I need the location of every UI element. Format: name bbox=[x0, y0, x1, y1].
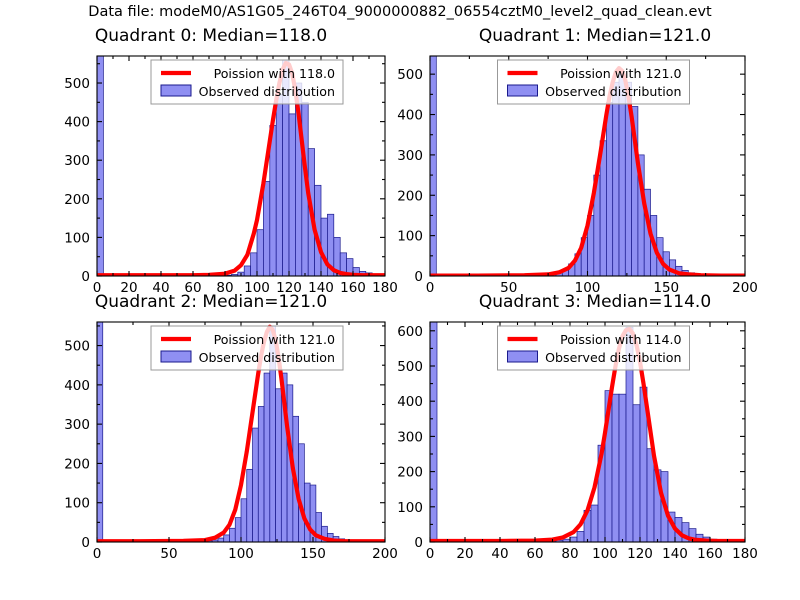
y-tick-label: 500 bbox=[397, 67, 423, 83]
subplot-title-0: Quadrant 0: Median=118.0 bbox=[22, 26, 400, 46]
x-tick-label: 140 bbox=[662, 546, 688, 562]
x-tick-label: 0 bbox=[426, 546, 435, 562]
y-tick-label: 300 bbox=[64, 417, 90, 433]
x-tick-label: 100 bbox=[228, 546, 254, 562]
y-tick-label: 400 bbox=[397, 394, 423, 410]
legend-observed-swatch-icon bbox=[161, 85, 191, 96]
y-tick-label: 300 bbox=[397, 148, 423, 164]
x-tick-label: 120 bbox=[627, 546, 653, 562]
legend[interactable]: Poission with 121.0Observed distribution bbox=[498, 60, 690, 104]
x-tick-label: 180 bbox=[732, 546, 758, 562]
legend[interactable]: Poission with 118.0Observed distribution bbox=[151, 60, 343, 104]
legend-label-poisson: Poission with 121.0 bbox=[560, 66, 681, 81]
subplot-title-3: Quadrant 3: Median=114.0 bbox=[400, 292, 790, 312]
legend-observed-swatch-icon bbox=[508, 85, 538, 96]
y-tick-label: 0 bbox=[414, 269, 423, 285]
subplot-quadrant-2: Quadrant 2: Median=121.00501001502000100… bbox=[22, 292, 400, 588]
y-tick-label: 500 bbox=[64, 76, 90, 92]
x-tick-label: 150 bbox=[300, 546, 326, 562]
y-tick-label: 200 bbox=[397, 188, 423, 204]
legend-label-poisson: Poission with 121.0 bbox=[214, 332, 335, 347]
plot-area-0: 0204060801001201401601800100200300400500… bbox=[22, 26, 400, 306]
plot-area-1: 0501001502000100200300400500Poission wit… bbox=[400, 26, 790, 306]
y-tick-label: 0 bbox=[414, 535, 423, 551]
y-tick-label: 500 bbox=[64, 339, 90, 355]
legend-label-poisson: Poission with 114.0 bbox=[560, 332, 681, 347]
y-tick-label: 500 bbox=[397, 359, 423, 375]
legend-observed-swatch-icon bbox=[161, 351, 191, 362]
subplot-quadrant-0: Quadrant 0: Median=118.00204060801001201… bbox=[22, 26, 400, 306]
x-tick-label: 80 bbox=[561, 546, 578, 562]
plot-area-2: 0501001502000100200300400500Poission wit… bbox=[22, 292, 400, 588]
legend-label-poisson: Poission with 118.0 bbox=[214, 66, 335, 81]
y-tick-label: 300 bbox=[64, 153, 90, 169]
legend-label-observed: Observed distribution bbox=[545, 350, 681, 365]
legend[interactable]: Poission with 114.0Observed distribution bbox=[498, 326, 690, 370]
y-tick-label: 600 bbox=[397, 324, 423, 340]
y-tick-label: 100 bbox=[397, 500, 423, 516]
x-tick-label: 200 bbox=[372, 546, 398, 562]
figure-canvas: Data file: modeM0/AS1G05_246T04_90000008… bbox=[0, 0, 800, 600]
x-tick-label: 0 bbox=[93, 546, 102, 562]
subplot-title-1: Quadrant 1: Median=121.0 bbox=[400, 26, 790, 46]
x-tick-label: 40 bbox=[491, 546, 508, 562]
y-tick-label: 200 bbox=[64, 456, 90, 472]
y-tick-label: 400 bbox=[64, 115, 90, 131]
legend[interactable]: Poission with 121.0Observed distribution bbox=[151, 326, 343, 370]
subplot-title-2: Quadrant 2: Median=121.0 bbox=[22, 292, 400, 312]
y-tick-label: 100 bbox=[397, 229, 423, 245]
x-tick-label: 60 bbox=[526, 546, 543, 562]
legend-label-observed: Observed distribution bbox=[545, 84, 681, 99]
x-tick-label: 20 bbox=[456, 546, 473, 562]
subplot-quadrant-3: Quadrant 3: Median=114.00204060801001201… bbox=[400, 292, 790, 588]
plot-area-3: 0204060801001201401601800100200300400500… bbox=[400, 292, 790, 588]
y-tick-label: 0 bbox=[81, 535, 90, 551]
y-tick-label: 200 bbox=[64, 192, 90, 208]
data-file-title: Data file: modeM0/AS1G05_246T04_90000008… bbox=[0, 4, 800, 20]
subplot-quadrant-1: Quadrant 1: Median=121.00501001502000100… bbox=[400, 26, 790, 306]
x-tick-label: 160 bbox=[697, 546, 723, 562]
y-tick-label: 100 bbox=[64, 496, 90, 512]
y-tick-label: 300 bbox=[397, 429, 423, 445]
y-tick-label: 400 bbox=[397, 108, 423, 124]
x-tick-label: 100 bbox=[592, 546, 618, 562]
legend-label-observed: Observed distribution bbox=[199, 84, 335, 99]
y-tick-label: 200 bbox=[397, 465, 423, 481]
y-tick-label: 100 bbox=[64, 230, 90, 246]
x-tick-label: 50 bbox=[160, 546, 177, 562]
legend-label-observed: Observed distribution bbox=[199, 350, 335, 365]
y-tick-label: 0 bbox=[81, 269, 90, 285]
y-tick-label: 400 bbox=[64, 378, 90, 394]
legend-observed-swatch-icon bbox=[508, 351, 538, 362]
